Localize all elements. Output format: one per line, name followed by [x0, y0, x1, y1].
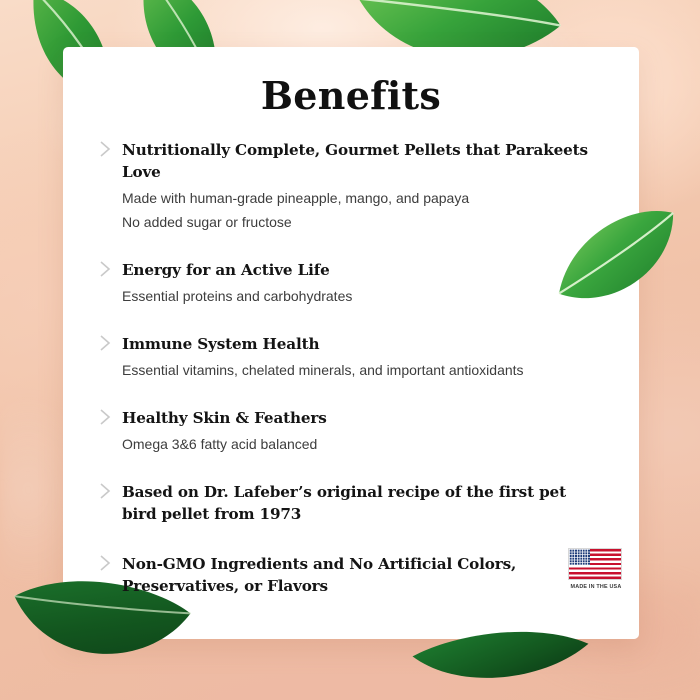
- benefit-subpoint: Essential vitamins, chelated minerals, a…: [122, 358, 618, 382]
- benefit-heading: Based on Dr. Lafeber’s original recipe o…: [122, 481, 582, 525]
- benefit-heading: Nutritionally Complete, Gourmet Pellets …: [122, 139, 618, 183]
- product-benefits-graphic: Benefits Nutritionally Complete, Gourmet…: [0, 0, 700, 700]
- benefit-heading: Immune System Health: [122, 333, 618, 355]
- benefit-subpoint: Made with human-grade pineapple, mango, …: [122, 186, 618, 210]
- chevron-right-icon: [98, 554, 112, 572]
- benefit-subpoints: Omega 3&6 fatty acid balanced: [122, 432, 618, 456]
- chevron-right-icon: [98, 482, 112, 500]
- benefit-subpoint: Omega 3&6 fatty acid balanced: [122, 432, 618, 456]
- page-title: Benefits: [63, 73, 639, 118]
- benefits-list: Nutritionally Complete, Gourmet Pellets …: [98, 139, 618, 597]
- benefit-subpoints: Essential vitamins, chelated minerals, a…: [122, 358, 618, 382]
- card-content: Benefits Nutritionally Complete, Gourmet…: [63, 47, 639, 639]
- benefit-subpoints: Essential proteins and carbohydrates: [122, 284, 618, 308]
- benefit-heading: Non-GMO Ingredients and No Artificial Co…: [122, 553, 522, 597]
- chevron-right-icon: [98, 334, 112, 352]
- list-item: Nutritionally Complete, Gourmet Pellets …: [98, 139, 618, 234]
- made-in-usa-badge: MADE IN THE USA: [568, 548, 624, 590]
- list-item: Immune System Health Essential vitamins,…: [98, 333, 618, 382]
- list-item: Energy for an Active Life Essential prot…: [98, 259, 618, 308]
- list-item: Healthy Skin & Feathers Omega 3&6 fatty …: [98, 407, 618, 456]
- benefit-heading: Energy for an Active Life: [122, 259, 618, 281]
- chevron-right-icon: [98, 260, 112, 278]
- benefit-subpoint: Essential proteins and carbohydrates: [122, 284, 618, 308]
- usa-flag-icon: [568, 548, 622, 580]
- flag-canton: [569, 549, 590, 565]
- badge-caption: MADE IN THE USA: [568, 584, 624, 590]
- benefit-subpoints: Made with human-grade pineapple, mango, …: [122, 186, 618, 234]
- benefit-subpoint: No added sugar or fructose: [122, 210, 618, 234]
- chevron-right-icon: [98, 140, 112, 158]
- chevron-right-icon: [98, 408, 112, 426]
- benefit-heading: Healthy Skin & Feathers: [122, 407, 618, 429]
- list-item: Non-GMO Ingredients and No Artificial Co…: [98, 553, 618, 597]
- list-item: Based on Dr. Lafeber’s original recipe o…: [98, 481, 618, 525]
